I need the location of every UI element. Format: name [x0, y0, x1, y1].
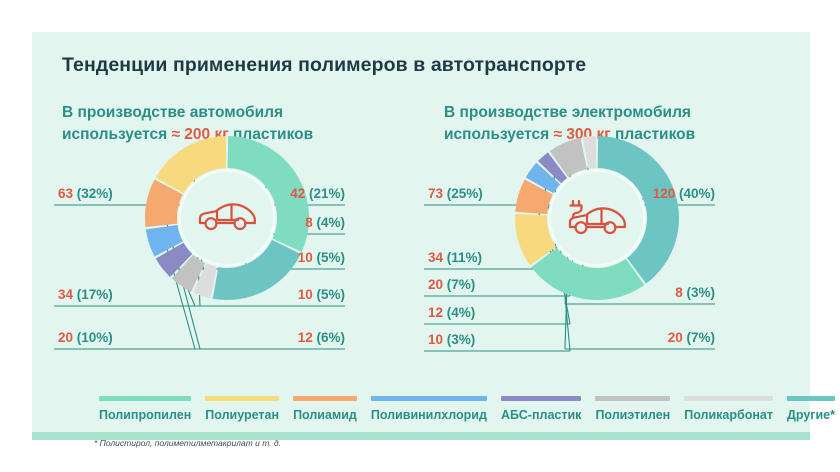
- pie-label: 10 (5%): [195, 287, 345, 302]
- pie-label-percent: (5%): [313, 250, 345, 265]
- pie-label-value: 20: [668, 330, 683, 345]
- pie-label-value: 20: [58, 330, 73, 345]
- pie-label-percent: (3%): [683, 285, 715, 300]
- pie-label-value: 34: [428, 250, 443, 265]
- donut-chart-electric-car: [512, 133, 682, 303]
- pie-label-value: 10: [298, 250, 313, 265]
- pie-label-value: 10: [298, 287, 313, 302]
- pie-label-percent: (32%): [73, 186, 113, 201]
- pie-label: 10 (5%): [195, 250, 345, 265]
- pie-label-value: 73: [428, 186, 443, 201]
- pie-label: 20 (10%): [58, 330, 113, 345]
- pie-label: 34 (11%): [428, 250, 482, 265]
- legend-label: Другие*: [787, 408, 835, 422]
- electric-car-icon: [564, 196, 630, 240]
- pie-label: 20 (7%): [565, 330, 715, 345]
- pie-label-value: 63: [58, 186, 73, 201]
- pie-label: 120 (40%): [565, 186, 715, 201]
- legend-swatch: [684, 396, 773, 401]
- pie-label-percent: (10%): [73, 330, 113, 345]
- legend-swatch: [595, 396, 670, 401]
- legend-item: Поливинилхлорид: [364, 396, 494, 422]
- pie-label-percent: (25%): [443, 186, 483, 201]
- pie-label: 63 (32%): [58, 186, 113, 201]
- legend-label: АБС-пластик: [501, 408, 582, 422]
- pie-label-value: 8: [305, 215, 313, 230]
- footnote: * Полистирол, полиметилметакрилат и т. д…: [94, 438, 281, 448]
- pie-label: 10 (3%): [428, 332, 475, 347]
- legend-item: Полиамид: [286, 396, 364, 422]
- pie-label-value: 34: [58, 287, 73, 302]
- pie-label: 12 (6%): [195, 330, 345, 345]
- legend: ПолипропиленПолиуретанПолиамидПоливинилх…: [92, 396, 816, 430]
- pie-label: 34 (17%): [58, 287, 113, 302]
- pie-label-value: 12: [428, 305, 443, 320]
- legend-swatch: [787, 396, 835, 401]
- pie-label: 12 (4%): [428, 305, 475, 320]
- pie-label-percent: (7%): [443, 277, 475, 292]
- legend-label: Полиуретан: [205, 408, 279, 422]
- legend-item: Полиэтилен: [588, 396, 677, 422]
- pie-label-percent: (17%): [73, 287, 113, 302]
- pie-label-percent: (40%): [675, 186, 715, 201]
- pie-label-percent: (7%): [683, 330, 715, 345]
- pie-label-percent: (11%): [443, 250, 482, 265]
- legend-swatch: [99, 396, 191, 401]
- infographic-root: Тенденции применения полимеров в автотра…: [0, 0, 840, 472]
- legend-item: АБС-пластик: [494, 396, 589, 422]
- pie-label-percent: (6%): [313, 330, 345, 345]
- legend-label: Поликарбонат: [684, 408, 773, 422]
- legend-swatch: [501, 396, 582, 401]
- legend-label: Полиамид: [293, 408, 357, 422]
- page-title: Тенденции применения полимеров в автотра…: [62, 54, 586, 77]
- pie-label: 73 (25%): [428, 186, 483, 201]
- legend-swatch: [205, 396, 279, 401]
- pie-label-value: 8: [675, 285, 683, 300]
- subtitle-left-line1: В производстве автомобиля: [62, 104, 283, 121]
- pie-label-value: 42: [290, 186, 305, 201]
- pie-label: 8 (3%): [565, 285, 715, 300]
- pie-label-value: 120: [653, 186, 676, 201]
- pie-label: 8 (4%): [195, 215, 345, 230]
- legend-item: Поликарбонат: [677, 396, 780, 422]
- pie-label-percent: (21%): [305, 186, 345, 201]
- pie-label-value: 10: [428, 332, 443, 347]
- legend-item: Полиуретан: [198, 396, 286, 422]
- subtitle-right-line1: В производстве электромобиля: [444, 104, 691, 121]
- legend-label: Полиэтилен: [595, 408, 670, 422]
- pie-label-percent: (3%): [443, 332, 475, 347]
- pie-label-percent: (4%): [443, 305, 475, 320]
- pie-label: 42 (21%): [195, 186, 345, 201]
- pie-label-percent: (4%): [313, 215, 345, 230]
- legend-label: Поливинилхлорид: [371, 408, 487, 422]
- pie-label-value: 20: [428, 277, 443, 292]
- legend-item: Другие*: [780, 396, 840, 422]
- legend-swatch: [293, 396, 357, 401]
- legend-item: Полипропилен: [92, 396, 198, 422]
- legend-label: Полипропилен: [99, 408, 191, 422]
- pie-label: 20 (7%): [428, 277, 475, 292]
- pie-label-percent: (5%): [313, 287, 345, 302]
- legend-swatch: [371, 396, 487, 401]
- pie-label-value: 12: [298, 330, 313, 345]
